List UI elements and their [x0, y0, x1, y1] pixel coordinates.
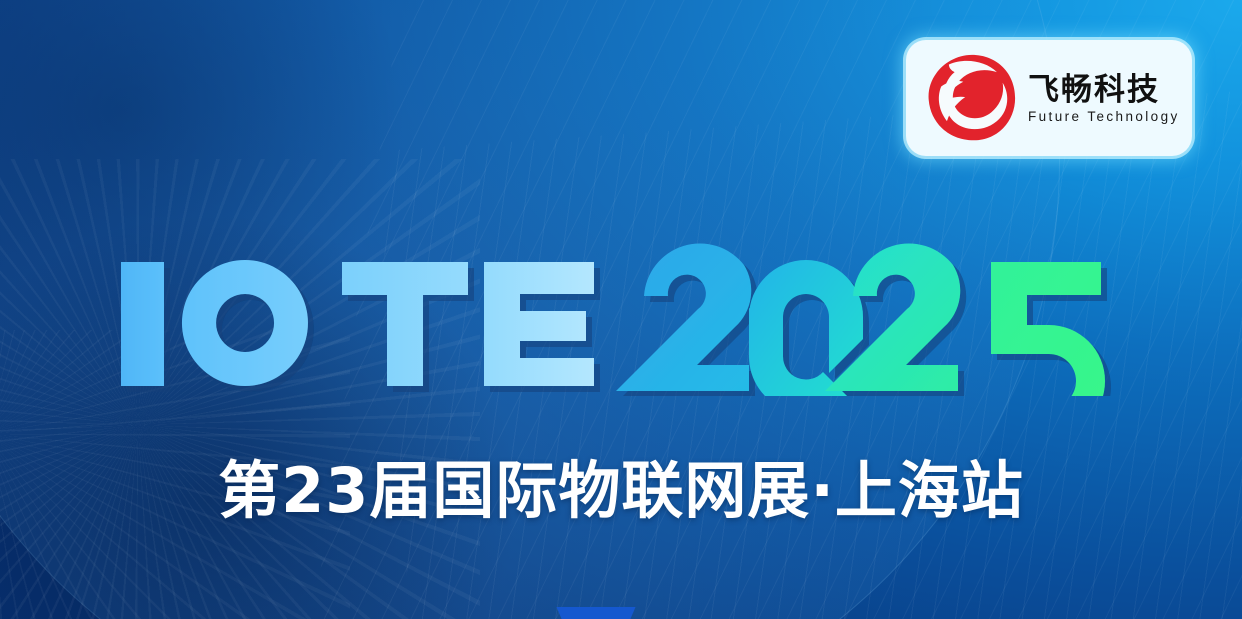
logo-company-name-cn: 飞畅科技 [1028, 75, 1180, 106]
headline-digit-2-first [616, 244, 751, 391]
bottom-accent-tab [553, 607, 639, 619]
fc-swirl-icon [922, 52, 1018, 144]
headline-letter-I [121, 262, 164, 386]
headline-letter-O [182, 260, 308, 386]
logo-company-name-en: Future Technology [1028, 110, 1180, 124]
logo-text-block: 飞畅科技 Future Technology [1028, 73, 1180, 124]
headline-letter-E [484, 262, 594, 386]
iote-2025-banner: 第23届国际物联网展·上海站 飞畅科技 Future Technology [0, 0, 1242, 619]
company-logo-card[interactable]: 飞畅科技 Future Technology [906, 40, 1192, 156]
page-subtitle: 第23届国际物联网展·上海站 [0, 455, 1242, 527]
headline-iote-2025 [0, 236, 1242, 396]
headline-digit-5 [991, 262, 1105, 396]
headline-letter-T [342, 262, 468, 386]
